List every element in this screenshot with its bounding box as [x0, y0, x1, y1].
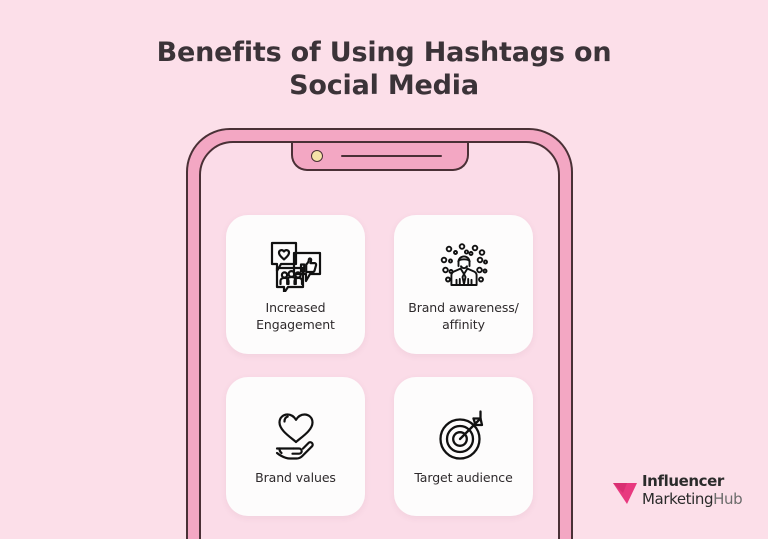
card-label-line-1: Target audience: [414, 470, 512, 485]
influencer-marketing-hub-arrow-icon: [612, 476, 640, 506]
card-label-increased-engagement: Increased Engagement: [256, 299, 335, 333]
phone-notch: [291, 141, 469, 171]
logo-hub-text: Hub: [713, 490, 742, 508]
card-brand-values[interactable]: Brand values: [226, 377, 365, 516]
card-label-line-1: Brand awareness/: [408, 300, 519, 315]
person-network-bubbles-icon: [435, 237, 493, 295]
card-label-line-1: Increased: [266, 300, 326, 315]
card-label-line-1: Brand values: [255, 470, 336, 485]
card-target-audience[interactable]: Target audience: [394, 377, 533, 516]
heart-in-hand-icon: [267, 407, 325, 465]
card-label-target-audience: Target audience: [414, 469, 512, 486]
logo-wordmark: Influencer MarketingHub: [642, 474, 742, 507]
card-label-brand-values: Brand values: [255, 469, 336, 486]
card-increased-engagement[interactable]: Increased Engagement: [226, 215, 365, 354]
card-label-line-2: affinity: [442, 317, 485, 332]
speaker-bar-icon: [341, 155, 442, 157]
camera-dot-icon: [311, 150, 323, 162]
logo-line-influencer: Influencer: [642, 474, 742, 489]
card-label-brand-awareness-affinity: Brand awareness/ affinity: [408, 299, 519, 333]
phone-mockup: Increased Engagement: [186, 128, 573, 539]
page-title-line-2: Social Media: [0, 69, 768, 102]
influencer-marketing-hub-logo[interactable]: Influencer MarketingHub: [612, 474, 742, 507]
speech-bubbles-heart-thumbsup-people-icon: [268, 237, 324, 295]
card-label-line-2: Engagement: [256, 317, 335, 332]
page-title-line-1: Benefits of Using Hashtags on: [0, 36, 768, 69]
logo-line-marketinghub: MarketingHub: [642, 492, 742, 507]
page-title: Benefits of Using Hashtags on Social Med…: [0, 36, 768, 102]
logo-marketing-text: Marketing: [642, 490, 713, 508]
target-dartboard-arrow-icon: [435, 407, 493, 465]
benefits-card-grid: Increased Engagement: [201, 215, 558, 516]
phone-screen: Increased Engagement: [199, 141, 560, 539]
card-brand-awareness-affinity[interactable]: Brand awareness/ affinity: [394, 215, 533, 354]
